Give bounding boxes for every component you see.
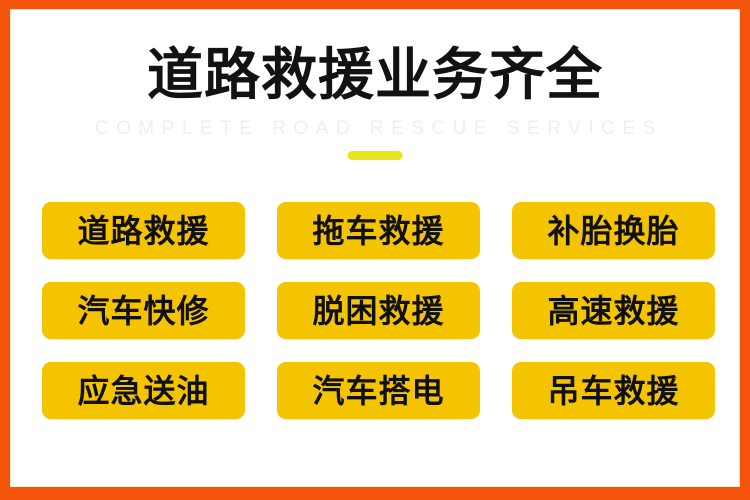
service-chip-tow-rescue[interactable]: 拖车救援 [277, 202, 480, 259]
service-chip-highway-rescue[interactable]: 高速救援 [512, 282, 715, 339]
accent-divider [348, 151, 403, 160]
service-grid: 道路救援 拖车救援 补胎换胎 汽车快修 脱困救援 高速救援 应急送油 汽车搭电 … [42, 202, 715, 419]
poster-header: 道路救援业务齐全 COMPLETE ROAD RESCUE SERVICES [11, 10, 739, 170]
page-subtitle: COMPLETE ROAD RESCUE SERVICES [11, 118, 739, 140]
service-chip-quick-repair[interactable]: 汽车快修 [42, 282, 245, 339]
service-chip-jump-start[interactable]: 汽车搭电 [277, 362, 480, 419]
service-chip-road-rescue[interactable]: 道路救援 [42, 202, 245, 259]
poster-canvas: 道路救援业务齐全 COMPLETE ROAD RESCUE SERVICES 道… [10, 9, 740, 487]
service-chip-crane-rescue[interactable]: 吊车救援 [512, 362, 715, 419]
service-chip-extrication[interactable]: 脱困救援 [277, 282, 480, 339]
poster-root: 道路救援业务齐全 COMPLETE ROAD RESCUE SERVICES 道… [0, 0, 750, 500]
page-title: 道路救援业务齐全 [11, 46, 739, 106]
service-chip-tire-repair[interactable]: 补胎换胎 [512, 202, 715, 259]
service-chip-fuel-delivery[interactable]: 应急送油 [42, 362, 245, 419]
